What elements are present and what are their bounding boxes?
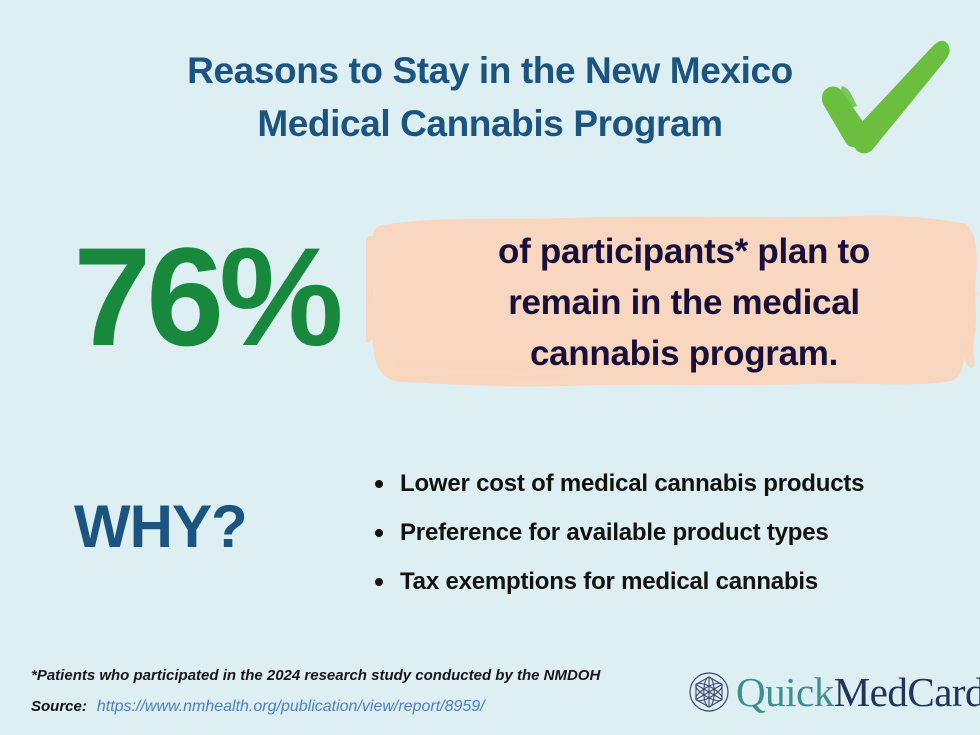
- bullet-icon: [375, 480, 383, 488]
- quickmedcards-logo[interactable]: QuickMedCards: [688, 670, 980, 714]
- source-row: Source: https://www.nmhealth.org/publica…: [31, 697, 485, 717]
- reasons-list: Lower cost of medical cannabis products …: [372, 470, 972, 617]
- stat-description-line-2: remain in the medical: [404, 277, 964, 328]
- list-item: Preference for available product types: [372, 519, 972, 547]
- stat-percentage: 76%: [26, 222, 386, 372]
- logo-text-quick: Quick: [736, 669, 834, 715]
- list-item-label: Preference for available product types: [400, 519, 829, 546]
- stat-description: of participants* plan to remain in the m…: [404, 226, 964, 379]
- footnote-text: *Patients who participated in the 2024 r…: [31, 666, 600, 686]
- stat-description-line-1: of participants* plan to: [404, 226, 964, 277]
- source-label: Source:: [31, 697, 87, 717]
- list-item: Lower cost of medical cannabis products: [372, 470, 972, 498]
- logo-text-medcards: MedCards: [834, 669, 980, 715]
- why-heading: WHY?: [74, 492, 247, 562]
- green-checkmark-icon: [816, 36, 952, 156]
- infographic-canvas: Reasons to Stay in the New Mexico Medica…: [0, 0, 980, 735]
- list-item-label: Lower cost of medical cannabis products: [400, 470, 864, 497]
- list-item: Tax exemptions for medical cannabis: [372, 568, 972, 596]
- bullet-icon: [375, 529, 383, 537]
- source-url-link[interactable]: https://www.nmhealth.org/publication/vie…: [97, 697, 485, 717]
- logo-wordmark: QuickMedCards: [736, 670, 980, 714]
- flower-of-life-hexagon-icon: [688, 671, 730, 713]
- bullet-icon: [375, 578, 383, 586]
- stat-description-line-3: cannabis program.: [404, 328, 964, 379]
- list-item-label: Tax exemptions for medical cannabis: [400, 568, 818, 595]
